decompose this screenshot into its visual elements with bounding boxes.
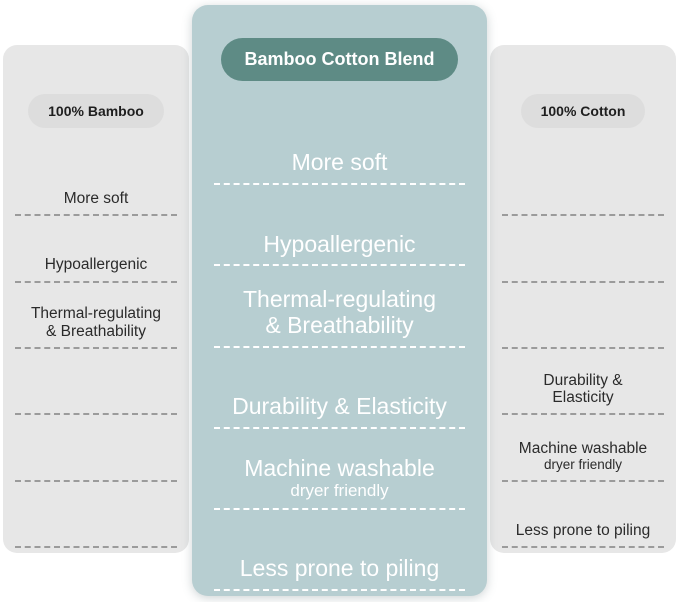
- feature-row-empty: [15, 354, 177, 420]
- row-divider: [15, 546, 177, 548]
- feature-row: Machine washable dryer friendly: [214, 434, 465, 515]
- feature-label: More soft: [214, 150, 465, 176]
- feature-row: Less prone to piling: [214, 515, 465, 596]
- feature-rows-bamboo: More soft Hypoallergenic Thermal-regulat…: [3, 155, 189, 553]
- feature-label: Hypoallergenic: [15, 256, 177, 273]
- feature-row-empty: [15, 420, 177, 486]
- column-cotton: 100% Cotton Durability &Elasticity Machi…: [490, 45, 676, 553]
- column-badge-bamboo: 100% Bamboo: [28, 94, 164, 128]
- feature-row: Hypoallergenic: [214, 190, 465, 271]
- feature-sublabel: dryer friendly: [502, 457, 664, 473]
- feature-row: Thermal-regulating& Breathability: [15, 288, 177, 354]
- feature-row: Hypoallergenic: [15, 221, 177, 287]
- feature-row-empty: [15, 487, 177, 553]
- feature-label: Thermal-regulating& Breathability: [15, 305, 177, 340]
- feature-row: Less prone to piling: [502, 487, 664, 553]
- column-bamboo: 100% Bamboo More soft Hypoallergenic The…: [3, 45, 189, 553]
- feature-row-empty: [502, 288, 664, 354]
- row-divider: [214, 589, 465, 591]
- row-divider: [15, 214, 177, 216]
- comparison-chart: 100% Bamboo More soft Hypoallergenic The…: [0, 0, 679, 602]
- row-divider: [502, 281, 664, 283]
- feature-row-empty: [502, 221, 664, 287]
- row-divider: [502, 480, 664, 482]
- feature-label: More soft: [15, 190, 177, 207]
- feature-rows-cotton: Durability &Elasticity Machine washable …: [490, 155, 676, 553]
- feature-row: Durability &Elasticity: [502, 354, 664, 420]
- feature-label: Durability & Elasticity: [214, 394, 465, 420]
- row-divider: [214, 346, 465, 348]
- feature-row: More soft: [15, 155, 177, 221]
- row-divider: [502, 347, 664, 349]
- feature-row: Durability & Elasticity: [214, 353, 465, 434]
- feature-label: Durability &Elasticity: [502, 372, 664, 407]
- row-divider: [214, 183, 465, 185]
- row-divider: [15, 413, 177, 415]
- feature-label: Machine washable: [502, 440, 664, 457]
- row-divider: [15, 281, 177, 283]
- feature-sublabel: dryer friendly: [214, 481, 465, 501]
- feature-label: Less prone to piling: [502, 522, 664, 539]
- row-divider: [502, 214, 664, 216]
- feature-label: Less prone to piling: [214, 556, 465, 582]
- feature-label: Hypoallergenic: [214, 232, 465, 258]
- column-badge-blend: Bamboo Cotton Blend: [221, 38, 459, 81]
- row-divider: [214, 264, 465, 266]
- column-badge-cotton: 100% Cotton: [521, 94, 646, 128]
- row-divider: [502, 546, 664, 548]
- feature-row: Machine washable dryer friendly: [502, 420, 664, 486]
- feature-row: Thermal-regulating& Breathability: [214, 271, 465, 352]
- feature-label: Thermal-regulating& Breathability: [214, 287, 465, 339]
- feature-row-empty: [502, 155, 664, 221]
- row-divider: [15, 347, 177, 349]
- row-divider: [502, 413, 664, 415]
- row-divider: [214, 427, 465, 429]
- feature-label: Machine washable: [214, 456, 465, 482]
- row-divider: [214, 508, 465, 510]
- row-divider: [15, 480, 177, 482]
- feature-row: More soft: [214, 109, 465, 190]
- feature-rows-blend: More soft Hypoallergenic Thermal-regulat…: [192, 109, 487, 596]
- column-blend: Bamboo Cotton Blend More soft Hypoallerg…: [192, 5, 487, 596]
